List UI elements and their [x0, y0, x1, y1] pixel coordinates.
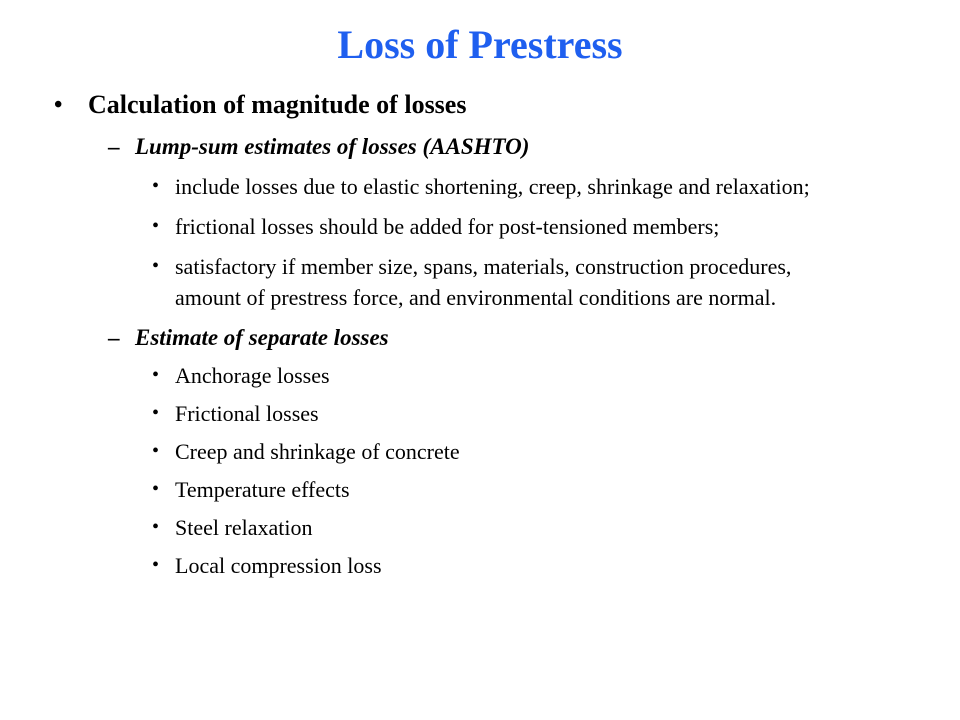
- bullet-text: Local compression loss: [175, 550, 848, 581]
- bullet-level3-item: • include losses due to elastic shorteni…: [0, 171, 960, 202]
- bullet-level3-item: • satisfactory if member size, spans, ma…: [0, 251, 960, 313]
- slide-body: • Calculation of magnitude of losses – L…: [0, 88, 960, 581]
- bullet-level3-item: • Frictional losses: [0, 398, 960, 429]
- bullet-level3-item: • Local compression loss: [0, 550, 960, 581]
- page-title: Loss of Prestress: [0, 22, 960, 68]
- bullet-text: Anchorage losses: [175, 360, 848, 391]
- dash-marker-icon: –: [108, 131, 135, 162]
- bullet-marker-icon: •: [152, 171, 175, 202]
- bullet-marker-icon: •: [152, 398, 175, 429]
- bullet-marker-icon: •: [152, 436, 175, 467]
- bullet-text: Steel relaxation: [175, 512, 848, 543]
- bullet-text: Estimate of separate losses: [135, 322, 850, 353]
- bullet-marker-icon: •: [152, 211, 175, 242]
- bullet-text: frictional losses should be added for po…: [175, 211, 848, 242]
- bullet-text: Lump-sum estimates of losses (AASHTO): [135, 131, 850, 162]
- bullet-level2-lump-sum: – Lump-sum estimates of losses (AASHTO): [0, 131, 960, 162]
- bullet-level3-item: • frictional losses should be added for …: [0, 211, 960, 242]
- bullet-level3-item: • Anchorage losses: [0, 360, 960, 391]
- bullet-text: include losses due to elastic shortening…: [175, 171, 848, 202]
- bullet-marker-icon: •: [152, 550, 175, 581]
- bullet-level3-item: • Steel relaxation: [0, 512, 960, 543]
- bullet-text: Creep and shrinkage of concrete: [175, 436, 848, 467]
- bullet-level2-separate-losses: – Estimate of separate losses: [0, 322, 960, 353]
- bullet-text: Frictional losses: [175, 398, 848, 429]
- bullet-marker-icon: •: [54, 88, 88, 122]
- bullet-marker-icon: •: [152, 512, 175, 543]
- bullet-level3-item: • Creep and shrinkage of concrete: [0, 436, 960, 467]
- bullet-marker-icon: •: [152, 360, 175, 391]
- slide: Loss of Prestress • Calculation of magni…: [0, 0, 960, 720]
- bullet-text: satisfactory if member size, spans, mate…: [175, 251, 848, 313]
- dash-marker-icon: –: [108, 322, 135, 353]
- bullet-marker-icon: •: [152, 251, 175, 282]
- bullet-level1-calculation: • Calculation of magnitude of losses: [0, 88, 960, 122]
- bullet-text: Calculation of magnitude of losses: [88, 88, 860, 122]
- bullet-marker-icon: •: [152, 474, 175, 505]
- bullet-text: Temperature effects: [175, 474, 848, 505]
- bullet-level3-item: • Temperature effects: [0, 474, 960, 505]
